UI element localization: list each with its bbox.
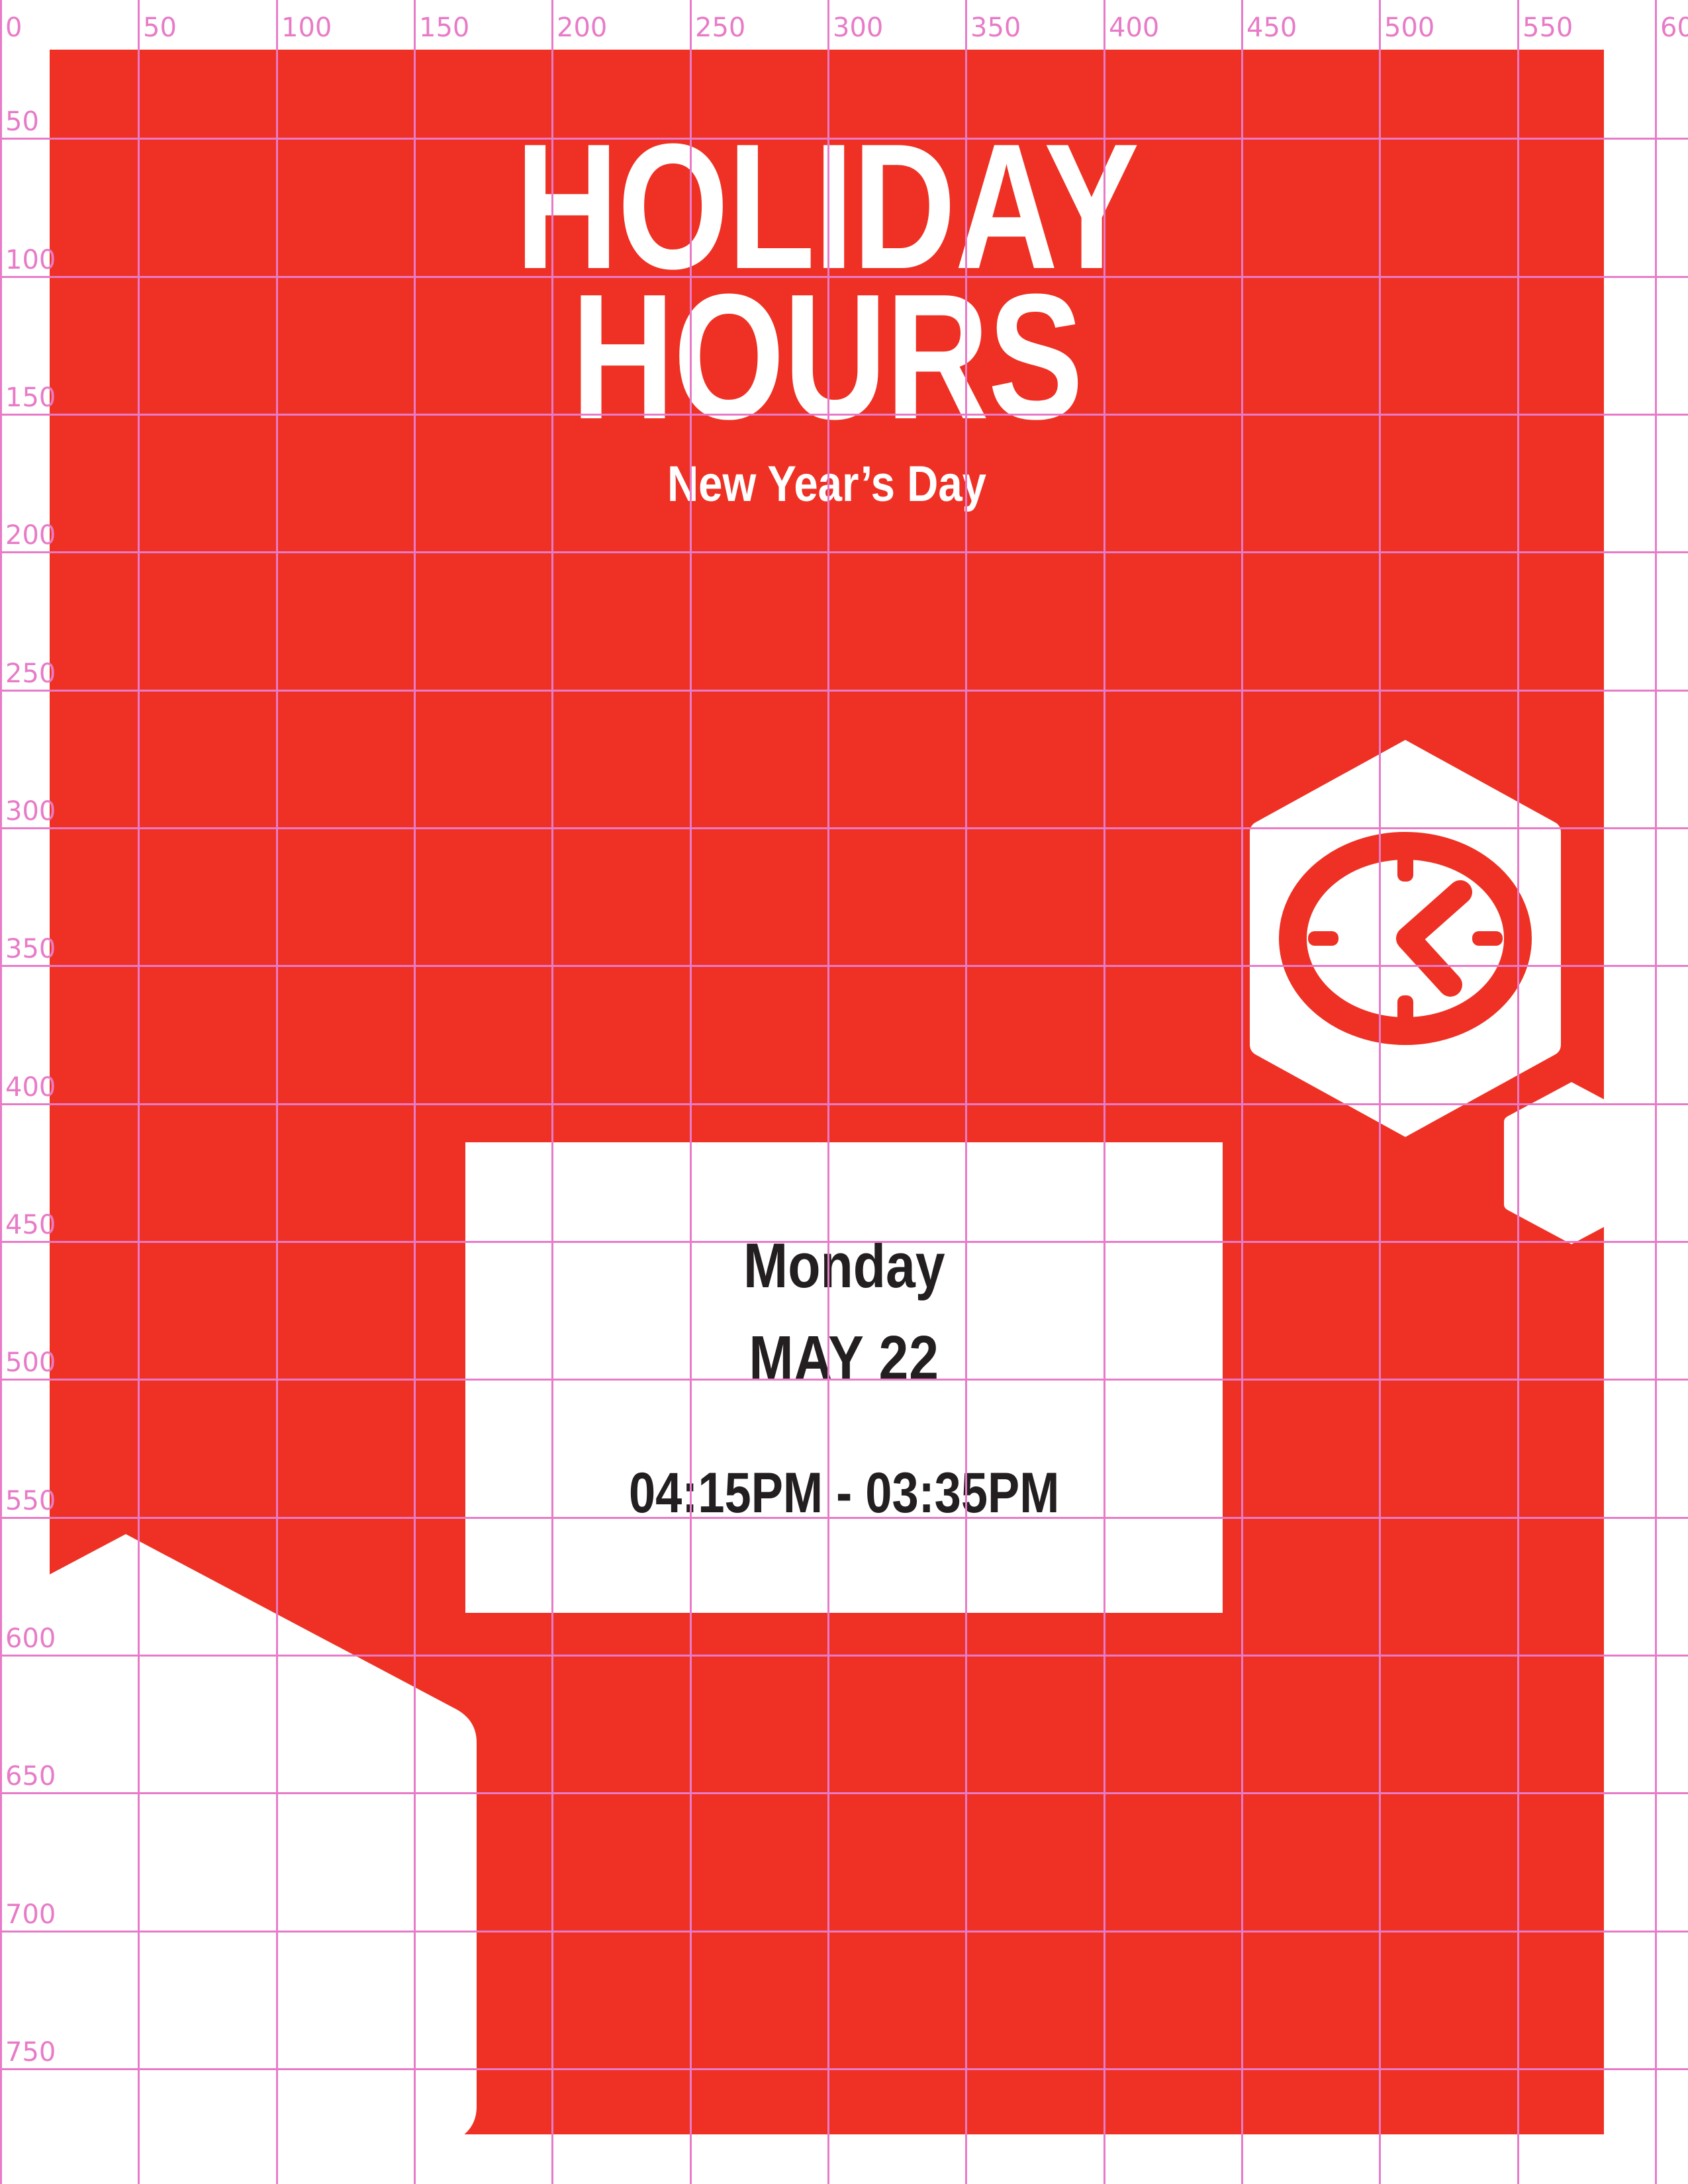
large-hexagon-decoration <box>0 1534 477 2184</box>
grid-label-x: 350 <box>970 15 1021 41</box>
poster-canvas: HOLIDAY HOURS New Year’s Day Monday MAY … <box>0 0 1688 2184</box>
card-date: MAY 22 <box>749 1327 939 1390</box>
card-hours-range: 04:15PM - 03:35PM <box>629 1465 1059 1522</box>
grid-label-y: 450 <box>5 1212 56 1238</box>
grid-label-y: 200 <box>5 522 56 549</box>
grid-label-y: 50 <box>5 109 39 135</box>
grid-label-x: 500 <box>1384 15 1434 41</box>
grid-label-y: 150 <box>5 385 56 411</box>
clock-icon <box>1250 740 1561 1137</box>
grid-label-y: 500 <box>5 1349 56 1376</box>
hours-info-card: Monday MAY 22 04:15PM - 03:35PM <box>465 1142 1223 1613</box>
headline-block: HOLIDAY HOURS New Year’s Day <box>50 132 1604 512</box>
grid-label-y: 250 <box>5 660 56 687</box>
grid-line-vertical <box>1655 0 1657 2184</box>
small-hexagon-decoration <box>1504 1082 1640 1244</box>
grid-label-y: 300 <box>5 798 56 825</box>
grid-label-y: 400 <box>5 1074 56 1101</box>
grid-label-x: 150 <box>419 15 469 41</box>
card-weekday: Monday <box>743 1234 945 1298</box>
grid-label-y: 350 <box>5 936 56 962</box>
grid-label-x: 450 <box>1246 15 1297 41</box>
grid-label-x: 550 <box>1523 15 1573 41</box>
poster-subtitle: New Year’s Day <box>158 457 1495 512</box>
grid-label-y: 550 <box>5 1488 56 1514</box>
headline-line-2: HOURS <box>205 283 1448 433</box>
grid-label-x: 300 <box>833 15 883 41</box>
grid-label-x: 600 <box>1660 15 1688 41</box>
grid-label-x: 250 <box>695 15 745 41</box>
grid-label-x: 0 <box>5 15 22 41</box>
grid-label-x: 200 <box>557 15 607 41</box>
grid-label-x: 100 <box>281 15 332 41</box>
grid-label-x: 400 <box>1109 15 1159 41</box>
grid-label-x: 50 <box>143 15 177 41</box>
grid-label-y: 100 <box>5 247 56 273</box>
